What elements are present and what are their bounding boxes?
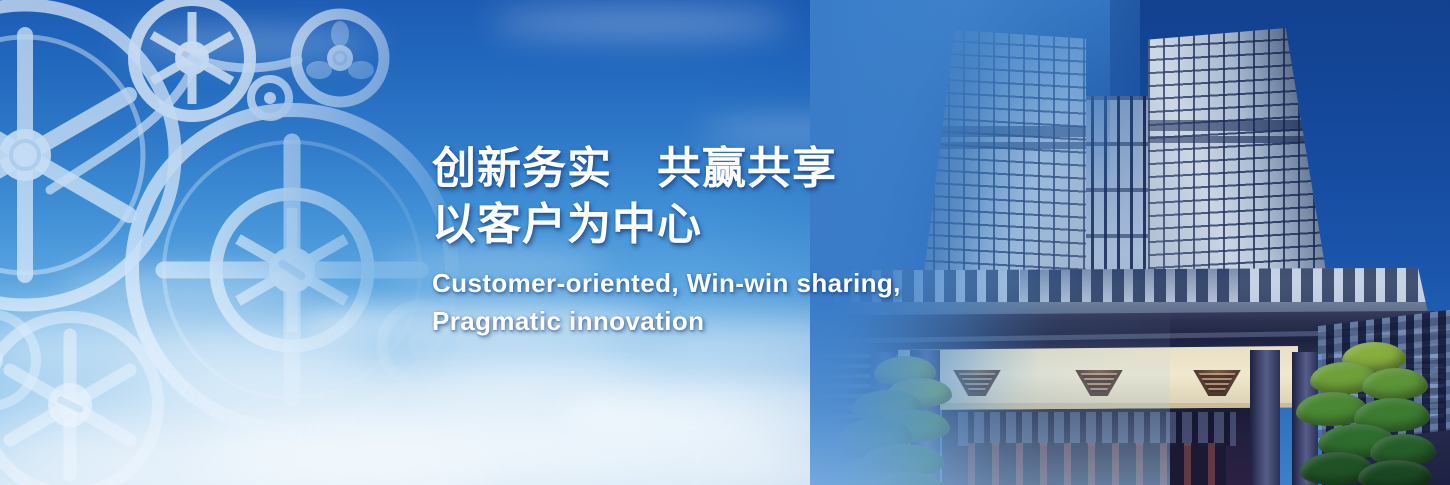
hero-banner: 创新务实 共赢共享 以客户为中心 Customer-oriented, Win-… bbox=[0, 0, 1450, 485]
headline-line-2: 以客户为中心 bbox=[432, 198, 992, 252]
subtitle-line-2: Pragmatic innovation bbox=[432, 303, 992, 341]
subtitle-line-1: Customer-oriented, Win-win sharing, bbox=[432, 265, 992, 303]
headline-line-1: 创新务实 共赢共享 bbox=[432, 142, 992, 196]
topiary-tree-right bbox=[1296, 342, 1436, 485]
art-deco-fan-light bbox=[1190, 370, 1244, 396]
stone-column bbox=[1250, 350, 1280, 485]
subtitle-block: Customer-oriented, Win-win sharing, Prag… bbox=[432, 265, 992, 340]
banner-copy: 创新务实 共赢共享 以客户为中心 Customer-oriented, Win-… bbox=[432, 142, 992, 341]
